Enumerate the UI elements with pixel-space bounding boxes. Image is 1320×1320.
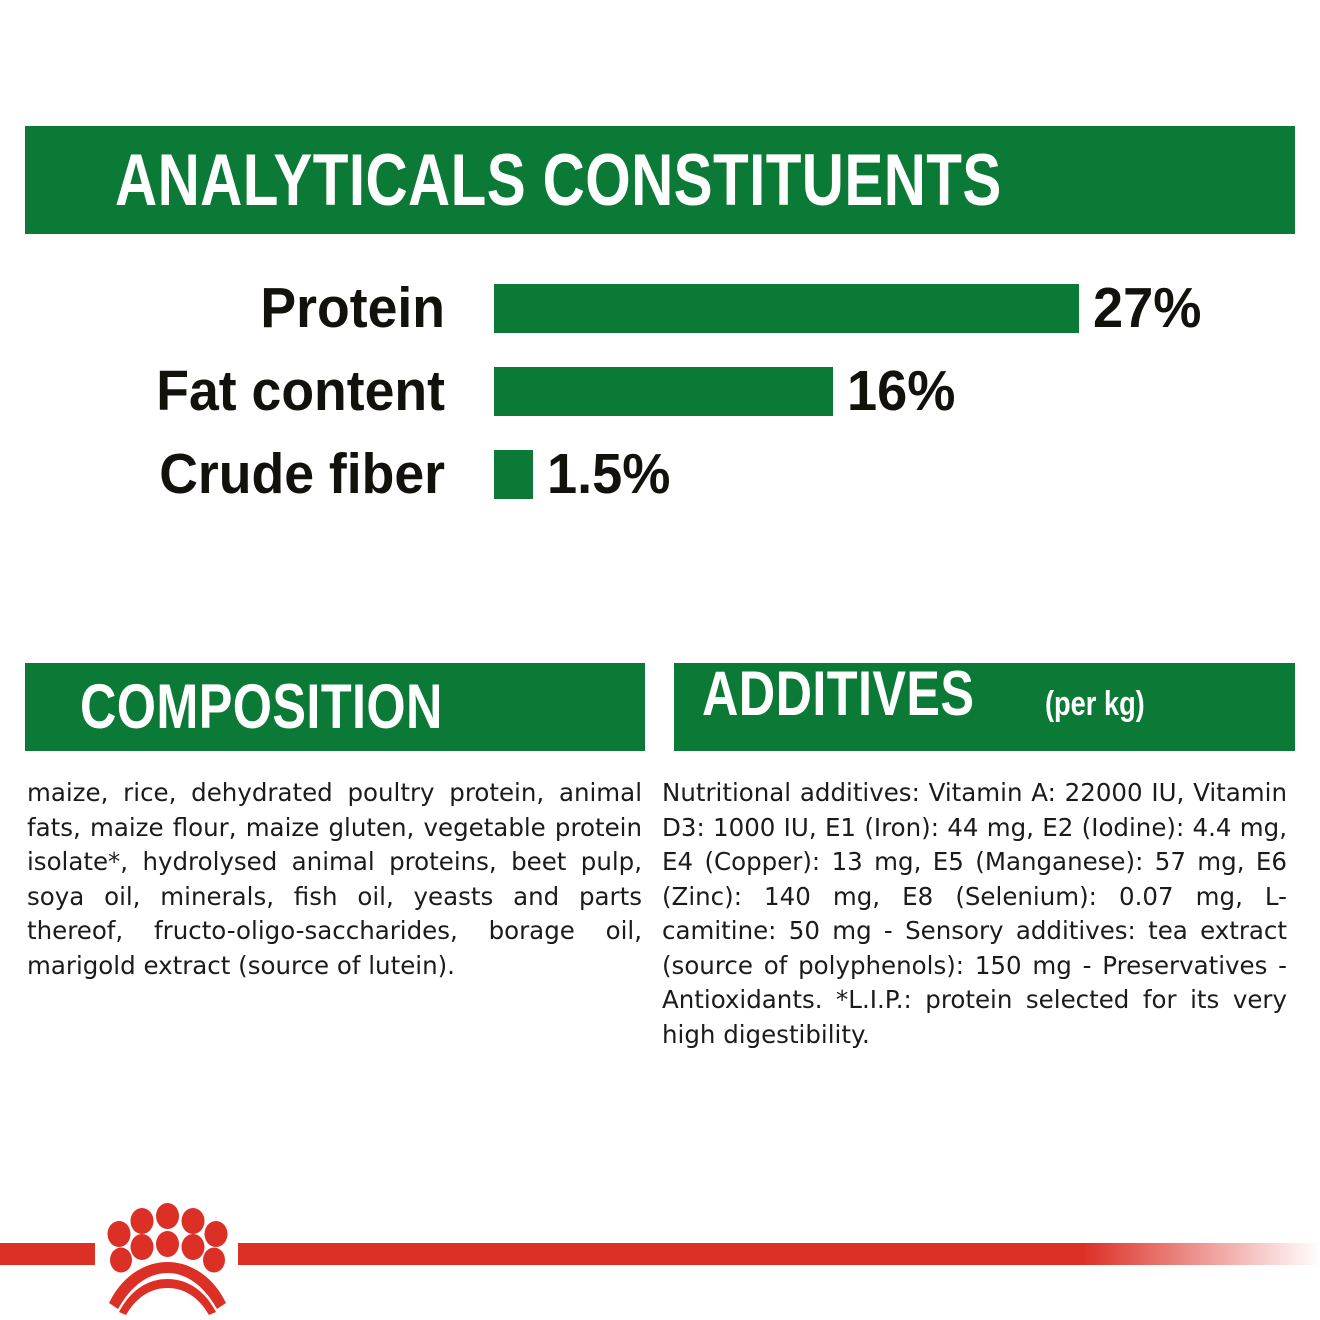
chart-bar-crude-fiber xyxy=(494,450,533,499)
additives-body-text: Nutritional additives: Vitamin A: 22000 … xyxy=(662,776,1287,1052)
additives-banner-subtitle: (per kg) xyxy=(1045,687,1145,721)
analyticals-bar-chart: Protein 27% Fat content 16% Crude fiber … xyxy=(0,262,1320,512)
composition-banner-title: COMPOSITION xyxy=(80,676,443,739)
analyticals-banner-title: ANALYTICALS CONSTITUENTS xyxy=(115,144,1002,217)
additives-banner-title: ADDITIVES xyxy=(702,663,974,726)
chart-label-fat-content: Fat content xyxy=(27,363,445,420)
chart-value-fat-content: 16% xyxy=(847,363,955,420)
chart-label-protein: Protein xyxy=(27,280,445,337)
footer xyxy=(0,1195,1320,1320)
composition-body-text: maize, rice, dehydrated poultry protein,… xyxy=(27,776,642,983)
chart-label-crude-fiber: Crude fiber xyxy=(27,446,445,503)
footer-rule-right xyxy=(238,1243,1320,1265)
footer-rule-left xyxy=(0,1243,95,1265)
royal-canin-crown-logo-icon xyxy=(95,1200,240,1315)
chart-row: Protein 27% xyxy=(0,272,1320,344)
chart-value-protein: 27% xyxy=(1093,280,1201,337)
chart-bar-protein xyxy=(494,284,1079,333)
additives-banner-inner: ADDITIVES (per kg) xyxy=(702,663,1169,726)
chart-value-crude-fiber: 1.5% xyxy=(547,446,670,503)
chart-bar-fat-content xyxy=(494,367,833,416)
chart-row: Crude fiber 1.5% xyxy=(0,438,1320,510)
analyticals-banner: ANALYTICALS CONSTITUENTS xyxy=(25,126,1295,234)
product-nutrition-panel: ANALYTICALS CONSTITUENTS Protein 27% Fat… xyxy=(0,0,1320,1320)
composition-banner: COMPOSITION xyxy=(25,663,645,751)
additives-banner: ADDITIVES (per kg) xyxy=(674,663,1295,751)
chart-row: Fat content 16% xyxy=(0,355,1320,427)
